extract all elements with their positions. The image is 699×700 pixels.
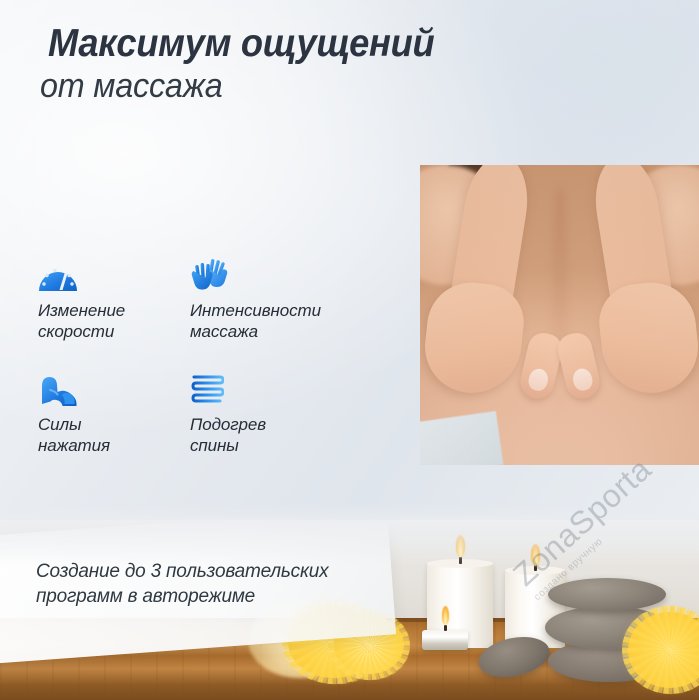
feature-intensity: Интенсивности массажа <box>190 250 342 342</box>
massaging-hands-icon <box>190 250 342 292</box>
page-title: Максимум ощущений от массажа <box>48 24 648 104</box>
feature-pressure: Силы нажатия <box>38 364 190 456</box>
feature-label-speed: Изменение скорости <box>38 300 190 342</box>
tealight-candle <box>422 630 468 650</box>
candle-flame-large <box>456 535 465 557</box>
candle-wick-large <box>459 557 462 564</box>
feature-speed: Изменение скорости <box>38 250 190 342</box>
feature-row-1: Изменение скорости <box>38 250 368 342</box>
promo-poster: Максимум ощущений от массажа <box>0 0 699 700</box>
feature-label-pressure: Силы нажатия <box>38 414 190 456</box>
spa-photo <box>0 520 699 700</box>
massage-photo <box>420 165 699 465</box>
feature-label-heating: Подогрев спины <box>190 414 342 456</box>
photo-vignette <box>420 165 699 465</box>
headline-line-1: Максимум ощущений <box>48 24 606 65</box>
flower-yellow-right <box>628 612 699 688</box>
headline-line-2: от массажа <box>40 69 618 104</box>
feature-row-2: Силы нажатия <box>38 364 368 456</box>
flexed-bicep-icon <box>38 364 190 406</box>
caption-text: Создание до 3 пользовательских программ … <box>36 560 436 609</box>
tealight-wick <box>444 625 447 631</box>
stone-top <box>548 578 666 611</box>
feature-heating: Подогрев спины <box>190 364 342 456</box>
feature-list: Изменение скорости <box>38 250 368 456</box>
heating-coil-icon <box>190 364 342 406</box>
feature-label-intensity: Интенсивности массажа <box>190 300 342 342</box>
speedometer-icon <box>38 250 190 292</box>
tealight-flame <box>442 606 449 625</box>
candle-flame-medium <box>531 544 540 566</box>
